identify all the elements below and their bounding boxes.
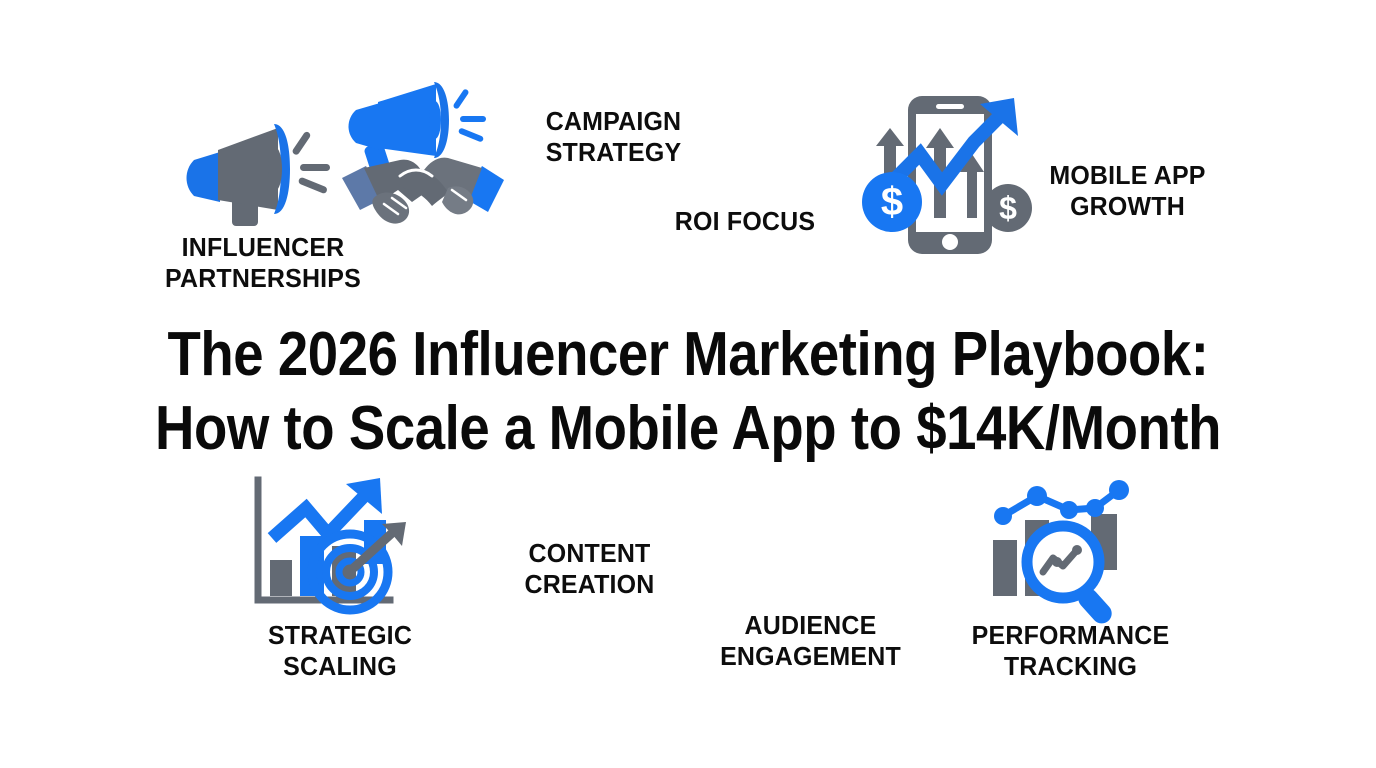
keyword-strategic-scaling: STRATEGIC SCALING — [239, 620, 441, 682]
keyword-line-2: ENGAGEMENT — [674, 641, 948, 672]
keyword-line-1: MOBILE APP — [1015, 160, 1241, 191]
keyword-content-creation: CONTENT CREATION — [477, 538, 703, 600]
megaphone-icon — [186, 118, 336, 228]
svg-text:$: $ — [881, 180, 903, 224]
keyword-line-1: STRATEGIC — [239, 620, 441, 651]
keyword-audience-engagement: AUDIENCE ENGAGEMENT — [674, 610, 948, 672]
keyword-roi-focus: ROI FOCUS — [625, 206, 865, 237]
keyword-line-2: STRATEGY — [482, 137, 746, 168]
thumbnail-canvas: $ $ — [0, 0, 1376, 768]
title-line-1: The 2026 Influencer Marketing Playbook: — [83, 318, 1294, 392]
growth-chart-target-icon — [240, 472, 420, 620]
keyword-performance-tracking: PERFORMANCE TRACKING — [963, 620, 1179, 682]
keyword-mobile-app-growth: MOBILE APP GROWTH — [1015, 160, 1241, 222]
title-line-2: How to Scale a Mobile App to $14K/Month — [83, 392, 1294, 466]
keyword-line-1: CONTENT — [477, 538, 703, 569]
keyword-line-1: CAMPAIGN — [482, 106, 746, 137]
keyword-line-1: INFLUENCER — [148, 232, 378, 263]
keyword-campaign-strategy: CAMPAIGN STRATEGY — [482, 106, 746, 168]
page-title: The 2026 Influencer Marketing Playbook: … — [83, 318, 1294, 466]
keyword-line-2: TRACKING — [963, 651, 1179, 682]
analytics-magnifier-icon — [985, 474, 1141, 618]
keyword-line-1: AUDIENCE — [674, 610, 948, 641]
mobile-growth-icon: $ $ — [862, 92, 1038, 258]
keyword-line-1: PERFORMANCE — [963, 620, 1179, 651]
keyword-influencer-partnerships: INFLUENCER PARTNERSHIPS — [148, 232, 378, 294]
keyword-line-1: ROI FOCUS — [625, 206, 865, 237]
keyword-line-2: SCALING — [239, 651, 441, 682]
keyword-line-2: GROWTH — [1015, 191, 1241, 222]
keyword-line-2: PARTNERSHIPS — [148, 263, 378, 294]
keyword-line-2: CREATION — [477, 569, 703, 600]
